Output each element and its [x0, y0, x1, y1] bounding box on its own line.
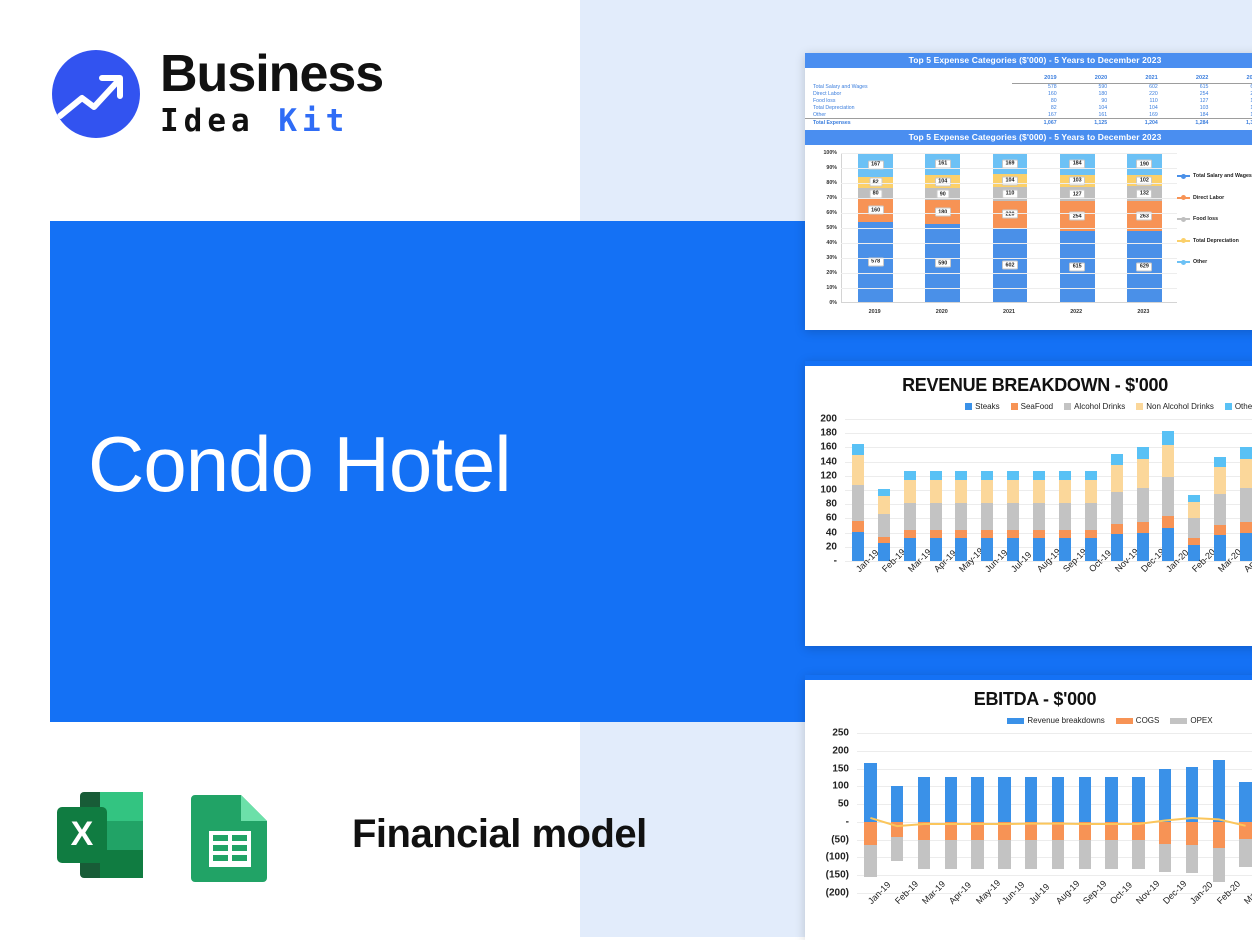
expense-row-label: Food loss: [805, 98, 1012, 105]
bar-segment: [1085, 471, 1097, 480]
gridline: [841, 273, 1177, 274]
expense-table: 20192020202120222023 Total Salary and Wa…: [805, 74, 1252, 126]
bar-segment: [1007, 530, 1019, 539]
ebitda-card: EBITDA - $'000 Revenue breakdownsCOGSOPE…: [805, 675, 1252, 940]
expense-bar-segment: 160: [858, 199, 893, 221]
bar-column: [955, 419, 967, 561]
bar-segment: [904, 471, 916, 480]
legend-label: Alcohol Drinks: [1074, 402, 1125, 411]
expense-row-label: Total Salary and Wages: [805, 84, 1012, 91]
legend-swatch: [1225, 403, 1232, 410]
bar-column: [981, 419, 993, 561]
gridline: [841, 288, 1177, 289]
ebitda-chart-title: EBITDA - $'000: [805, 689, 1252, 710]
footer-label: Financial model: [352, 812, 647, 857]
table-row: Direct Labor160180220254263: [805, 91, 1252, 98]
expense-x-tick: 2021: [1003, 309, 1015, 315]
expense-y-tick: 30%: [805, 255, 837, 261]
bar-segment: [1033, 530, 1045, 539]
y-axis-tick: 60: [805, 513, 837, 524]
expense-row-label: Total Depreciation: [805, 104, 1012, 111]
bar-segment: [878, 514, 890, 537]
expense-cell: 169: [1113, 111, 1164, 118]
expense-x-tick: 2022: [1070, 309, 1082, 315]
expense-bar-segment: 161: [925, 153, 960, 174]
expense-bar-segment: 167: [858, 153, 893, 176]
bar-segment: [1137, 488, 1149, 522]
bar-segment: [1033, 471, 1045, 480]
bar-segment: [1240, 447, 1252, 459]
bar-segment: [852, 521, 864, 532]
expense-chart-header: Top 5 Expense Categories ($'000) - 5 Yea…: [805, 130, 1252, 145]
legend-swatch: [1116, 718, 1133, 724]
expense-y-tick: 0%: [805, 300, 837, 306]
expense-x-tick: 2023: [1137, 309, 1149, 315]
legend-item: Food loss: [1177, 216, 1252, 222]
bar-segment: [1111, 454, 1123, 465]
expense-bar-segment: 263: [1127, 201, 1162, 231]
bar-column: [1007, 419, 1019, 561]
bar-column: [1085, 419, 1097, 561]
expense-y-tick: 60%: [805, 210, 837, 216]
expense-total-cell: 1,316: [1214, 118, 1252, 126]
legend-swatch: [1170, 718, 1187, 724]
bar-segment: [981, 471, 993, 480]
expense-total-cell: 1,125: [1063, 118, 1114, 126]
legend-item: Other: [1225, 402, 1252, 411]
expense-row-label: Other: [805, 111, 1012, 118]
expense-y-tick: 80%: [805, 180, 837, 186]
bar-segment: [1188, 518, 1200, 538]
bar-segment: [930, 530, 942, 539]
legend-item: Steaks: [965, 402, 999, 411]
expense-cell: 102: [1214, 104, 1252, 111]
bar-segment: [1162, 431, 1174, 444]
legend-swatch: [1177, 240, 1190, 242]
expense-total-cell: 1,204: [1113, 118, 1164, 126]
bar-segment: [1111, 465, 1123, 492]
bar-segment: [878, 496, 890, 514]
bar-segment: [1240, 533, 1252, 561]
expense-bar-value: 127: [1069, 190, 1085, 199]
bar-segment: [1188, 502, 1200, 518]
bar-segment: [878, 537, 890, 543]
expense-bar-value: 629: [1136, 262, 1152, 271]
y-axis-tick: 80: [805, 499, 837, 510]
bar-segment: [852, 485, 864, 521]
expense-bar-segment: 169: [993, 153, 1028, 174]
bar-column: [1111, 419, 1123, 561]
legend-swatch: [1177, 197, 1190, 199]
bar-column: [1240, 419, 1252, 561]
bar-segment: [930, 471, 942, 480]
google-sheets-icon: [179, 783, 282, 886]
ebitda-plot-area: 25020015010050-(50)(100)(150)(200)Jan-19…: [805, 733, 1252, 929]
legend-swatch: [1177, 175, 1190, 177]
table-row: Total Salary and Wages578590602615629: [805, 84, 1252, 91]
y-axis-tick: 40: [805, 527, 837, 538]
expense-cell: 161: [1063, 111, 1114, 118]
gridline: [841, 228, 1177, 229]
bar-column: [1137, 419, 1149, 561]
legend-item: Total Depreciation: [1177, 238, 1252, 244]
expense-stacked-chart: 1678280160578161104901805901691041102206…: [805, 147, 1252, 327]
svg-text:X: X: [71, 815, 94, 853]
expense-bar-value: 110: [1002, 189, 1018, 198]
expense-y-tick: 20%: [805, 270, 837, 276]
expense-row-label: Direct Labor: [805, 91, 1012, 98]
legend-item: COGS: [1116, 716, 1160, 725]
expense-y-tick: 90%: [805, 165, 837, 171]
legend-item: Direct Labor: [1177, 195, 1252, 201]
expense-cell: 180: [1063, 91, 1114, 98]
expense-cell: 103: [1164, 104, 1215, 111]
expense-bar-segment: 254: [1060, 201, 1095, 231]
expense-cell: 167: [1012, 111, 1063, 118]
table-row-total: Total Expenses1,0671,1251,2041,2841,316: [805, 118, 1252, 126]
brand-logo: Business Idea Kit: [52, 48, 383, 140]
legend-label: Total Salary and Wages: [1193, 173, 1252, 179]
expense-bar-segment: 602: [993, 228, 1028, 302]
bar-segment: [1059, 503, 1071, 530]
expense-cell: 110: [1113, 98, 1164, 105]
expense-total-cell: 1,284: [1164, 118, 1215, 126]
expense-bar-value: 190: [1136, 160, 1152, 169]
y-axis-tick: -: [805, 556, 837, 567]
ebitda-trend-line: [805, 733, 1252, 929]
bar-segment: [852, 455, 864, 485]
bar-segment: [1111, 524, 1123, 534]
gridline: [841, 183, 1177, 184]
expense-cell: 82: [1012, 104, 1063, 111]
expense-cell: 615: [1164, 84, 1215, 91]
bar-column: [1214, 419, 1226, 561]
legend-swatch: [1064, 403, 1071, 410]
legend-swatch: [1011, 403, 1018, 410]
brand-name-kit: Kit: [278, 103, 349, 139]
bar-segment: [1188, 538, 1200, 544]
ebitda-chart-legend: Revenue breakdownsCOGSOPEX: [805, 716, 1252, 725]
y-axis-tick: 160: [805, 442, 837, 453]
expense-chart-legend: Total Salary and WagesDirect LaborFood l…: [1177, 173, 1252, 281]
bar-column: [852, 419, 864, 561]
expense-cell: 263: [1214, 91, 1252, 98]
gridline: [841, 198, 1177, 199]
bar-segment: [1214, 494, 1226, 525]
expense-bar-value: 184: [1069, 159, 1085, 168]
expense-x-tick: 2019: [869, 309, 881, 315]
y-axis-tick: 180: [805, 428, 837, 439]
expense-x-tick: 2020: [936, 309, 948, 315]
revenue-chart-legend: SteaksSeaFoodAlcohol DrinksNon Alcohol D…: [805, 402, 1252, 411]
expense-bar-segment: 103: [1060, 175, 1095, 187]
y-axis-tick: 100: [805, 485, 837, 496]
expense-bar-value: 602: [1002, 261, 1018, 270]
expense-bar-value: 590: [935, 259, 951, 268]
bar-segment: [1111, 534, 1123, 561]
expense-bar-segment: 629: [1127, 231, 1162, 302]
bar-segment: [1162, 445, 1174, 478]
bar-segment: [955, 503, 967, 530]
expense-bar-value: 615: [1069, 262, 1085, 271]
table-row: Other167161169184190: [805, 111, 1252, 118]
bar-segment: [1240, 522, 1252, 533]
bar-segment: [1007, 471, 1019, 480]
bar-segment: [981, 480, 993, 503]
bar-segment: [1059, 480, 1071, 503]
legend-swatch: [1007, 718, 1024, 724]
bar-column: [904, 419, 916, 561]
table-row: Food loss8090110127132: [805, 98, 1252, 105]
expense-col-header: 2019: [1012, 74, 1063, 84]
bar-segment: [852, 444, 864, 455]
expense-y-tick: 100%: [805, 150, 837, 156]
bar-column: [1188, 419, 1200, 561]
bar-segment: [1162, 516, 1174, 528]
expense-cell: 132: [1214, 98, 1252, 105]
legend-label: Other: [1235, 402, 1252, 411]
expense-bar-segment: 190: [1127, 153, 1162, 175]
expense-bar-value: 180: [935, 208, 951, 217]
page-title: Condo Hotel: [88, 425, 511, 503]
expense-col-header: 2022: [1164, 74, 1215, 84]
legend-swatch: [1136, 403, 1143, 410]
y-axis-tick: 140: [805, 456, 837, 467]
bar-segment: [1007, 480, 1019, 503]
expense-cell: 160: [1012, 91, 1063, 98]
expense-bar-value: 161: [935, 159, 951, 168]
legend-label: Total Depreciation: [1193, 238, 1239, 244]
expense-col-header: 2021: [1113, 74, 1164, 84]
bar-segment: [1085, 530, 1097, 539]
legend-label: Other: [1193, 259, 1207, 265]
expense-bar-segment: 104: [993, 174, 1028, 187]
expense-bar-segment: 180: [925, 200, 960, 224]
bar-segment: [1137, 447, 1149, 459]
expense-bar-segment: 578: [858, 222, 893, 303]
bar-segment: [1214, 457, 1226, 468]
bar-segment: [904, 480, 916, 503]
bar-segment: [1137, 522, 1149, 533]
bar-segment: [904, 503, 916, 530]
bar-segment: [981, 503, 993, 530]
footer-row: X Financial model: [48, 783, 647, 886]
expense-bar-value: 104: [935, 177, 951, 186]
gridline: [841, 153, 1177, 154]
bar-column: [1059, 419, 1071, 561]
expense-cell: 190: [1214, 111, 1252, 118]
bar-segment: [955, 471, 967, 480]
y-axis-tick: 20: [805, 541, 837, 552]
expense-bar-value: 169: [1002, 159, 1018, 168]
legend-item: Revenue breakdowns: [1007, 716, 1104, 725]
expense-y-tick: 40%: [805, 240, 837, 246]
bar-segment: [1059, 471, 1071, 480]
legend-item: SeaFood: [1011, 402, 1053, 411]
expense-col-header: 2020: [1063, 74, 1114, 84]
revenue-breakdown-card: REVENUE BREAKDOWN - $'000 SteaksSeaFoodA…: [805, 361, 1252, 646]
legend-label: Steaks: [975, 402, 999, 411]
bar-segment: [1085, 503, 1097, 530]
bar-column: [878, 419, 890, 561]
legend-label: Revenue breakdowns: [1027, 716, 1104, 725]
bar-segment: [878, 489, 890, 496]
expense-y-tick: 70%: [805, 195, 837, 201]
y-axis-tick: 200: [805, 414, 837, 425]
bar-segment: [1214, 525, 1226, 535]
expense-bar-segment: 184: [1060, 153, 1095, 174]
bar-segment: [1137, 533, 1149, 561]
expense-cell: 590: [1063, 84, 1114, 91]
bar-segment: [981, 530, 993, 539]
expense-cell: 602: [1113, 84, 1164, 91]
bar-segment: [930, 503, 942, 530]
expense-cell: 254: [1164, 91, 1215, 98]
expense-y-tick: 50%: [805, 225, 837, 231]
bar-column: [1162, 419, 1174, 561]
bar-segment: [1085, 480, 1097, 503]
trending-up-arrow-icon: [52, 50, 140, 138]
legend-item: Non Alcohol Drinks: [1136, 402, 1214, 411]
bar-segment: [1214, 467, 1226, 493]
expense-cell: 90: [1063, 98, 1114, 105]
bar-segment: [1033, 480, 1045, 503]
expense-cell: 127: [1164, 98, 1215, 105]
expense-bar-segment: 615: [1060, 231, 1095, 302]
expense-y-tick: 10%: [805, 285, 837, 291]
bar-segment: [930, 480, 942, 503]
gridline: [841, 258, 1177, 259]
bar-column: [930, 419, 942, 561]
table-row: Total Depreciation82104104103102: [805, 104, 1252, 111]
expense-cell: 184: [1164, 111, 1215, 118]
y-axis-tick: 120: [805, 470, 837, 481]
expense-table-header: Top 5 Expense Categories ($'000) - 5 Yea…: [805, 53, 1252, 68]
revenue-plot-area: 20018016014012010080604020-Jan-19Feb-19M…: [805, 419, 1252, 609]
expense-cell: 104: [1113, 104, 1164, 111]
expense-bar-segment: 104: [925, 175, 960, 189]
bar-segment: [1111, 492, 1123, 524]
expense-total-cell: 1,067: [1012, 118, 1063, 126]
bar-segment: [955, 480, 967, 503]
expense-categories-card: Top 5 Expense Categories ($'000) - 5 Yea…: [805, 53, 1252, 330]
expense-cell: 629: [1214, 84, 1252, 91]
legend-swatch: [1177, 261, 1190, 263]
legend-item: Alcohol Drinks: [1064, 402, 1125, 411]
bar-segment: [1137, 459, 1149, 487]
expense-bar-value: 132: [1136, 189, 1152, 198]
brand-name-primary: Business: [160, 48, 383, 100]
bar-segment: [1240, 488, 1252, 522]
expense-bar-value: 80: [869, 189, 882, 198]
expense-bar-segment: 102: [1127, 175, 1162, 187]
legend-label: Direct Labor: [1193, 195, 1224, 201]
bar-segment: [1188, 495, 1200, 502]
gridline: [841, 168, 1177, 169]
bar-segment: [955, 530, 967, 539]
legend-label: OPEX: [1190, 716, 1212, 725]
legend-label: Food loss: [1193, 216, 1218, 222]
bar-segment: [1033, 503, 1045, 530]
microsoft-excel-icon: X: [48, 783, 151, 886]
gridline: [841, 243, 1177, 244]
expense-total-label: Total Expenses: [805, 118, 1012, 126]
bar-segment: [1162, 528, 1174, 561]
expense-col-header: [805, 74, 1012, 84]
expense-cell: 578: [1012, 84, 1063, 91]
legend-label: COGS: [1136, 716, 1160, 725]
bar-segment: [1162, 477, 1174, 516]
bar-segment: [1240, 459, 1252, 487]
legend-label: SeaFood: [1021, 402, 1053, 411]
expense-col-header: 2023: [1214, 74, 1252, 84]
legend-item: Other: [1177, 259, 1252, 265]
bar-segment: [1007, 503, 1019, 530]
legend-label: Non Alcohol Drinks: [1146, 402, 1214, 411]
legend-swatch: [1177, 218, 1190, 220]
brand-name-idea: Idea: [160, 103, 255, 139]
expense-cell: 80: [1012, 98, 1063, 105]
revenue-chart-title: REVENUE BREAKDOWN - $'000: [805, 375, 1252, 396]
expense-bar-segment: 590: [925, 224, 960, 302]
expense-cell: 220: [1113, 91, 1164, 98]
legend-swatch: [965, 403, 972, 410]
bar-segment: [1059, 530, 1071, 539]
legend-item: Total Salary and Wages: [1177, 173, 1252, 179]
bar-segment: [852, 532, 864, 561]
expense-cell: 104: [1063, 104, 1114, 111]
gridline: [841, 213, 1177, 214]
bar-segment: [904, 530, 916, 539]
bar-column: [1033, 419, 1045, 561]
legend-item: OPEX: [1170, 716, 1212, 725]
